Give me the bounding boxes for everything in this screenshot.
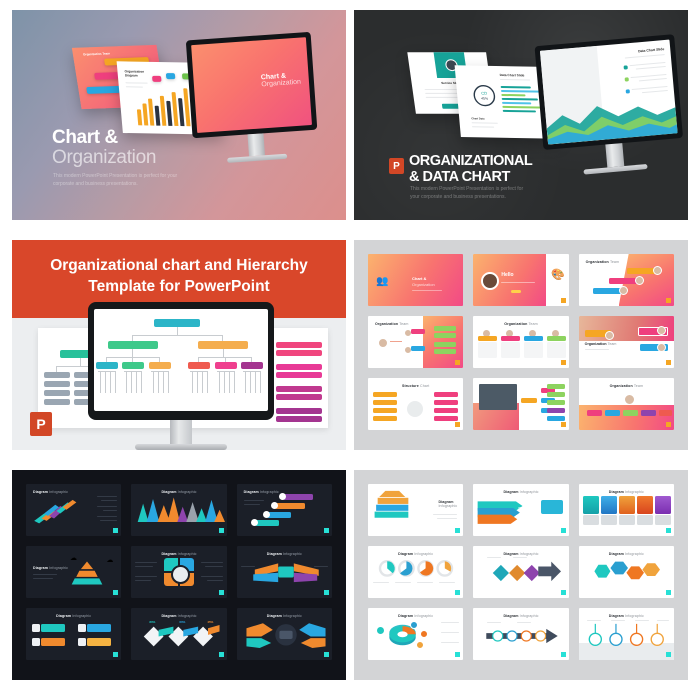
slide-thumb[interactable]: Diagram Infographic [579, 608, 674, 660]
card-title-line2: Template for PowerPoint [88, 278, 269, 295]
slide-title: Diagram Infographic [131, 552, 226, 556]
slide-thumb[interactable]: Diagram Infographic [26, 484, 121, 536]
slide-title: Structure Chart [368, 384, 463, 388]
diamond-ribbon-icon [135, 620, 225, 648]
panel-dark-diagram-infographic-grid[interactable]: Diagram Infographic [12, 470, 346, 680]
hero-title: ORGANIZATIONAL & DATA CHART [409, 154, 532, 185]
slide-thumb[interactable]: Organization Team [473, 316, 568, 368]
slide-subtitle: Organization [412, 282, 435, 287]
slide-title: Organization Team [586, 260, 619, 264]
hero-title-line1: ORGANIZATIONAL [409, 153, 532, 169]
pyramid-icon [64, 558, 110, 588]
screen-title-light: Organization [261, 79, 301, 89]
card-title: Organizational chart and Hierarchy Templ… [12, 256, 346, 298]
slide-thumb[interactable]: Organization Team [579, 254, 674, 306]
slide-badge [455, 360, 460, 365]
slide-thumb[interactable]: Diagram Infographic 84% 68% 47% [473, 484, 568, 536]
slide-title: Diagram Infographic [237, 552, 332, 556]
percent-label: 80% [149, 620, 155, 624]
percent-label: 60% [179, 620, 185, 624]
diamond-arrow-icon [477, 560, 567, 586]
slide-title: Hello [501, 272, 513, 278]
slide-thumb[interactable]: Diagram Infographic [579, 484, 674, 536]
slide-thumb[interactable]: 👥 Chart & Organization [368, 254, 463, 306]
panel-orgchart-hierarchy-title-card[interactable]: Organizational chart and Hierarchy Templ… [12, 240, 346, 450]
slide-thumb[interactable]: Organization Team [368, 316, 463, 368]
slide-title: Diagram Infographic [33, 566, 68, 570]
slide-title: Diagram Infographic [131, 614, 226, 618]
template-preview-grid: Organization Team OrganizationDiagram [0, 0, 700, 700]
slide-thumb[interactable]: Diagram Infographic [368, 608, 463, 660]
slide-badge [219, 590, 224, 595]
slide-title: Organization Team [579, 384, 674, 388]
slide-badge [324, 652, 329, 657]
slide-badge [113, 590, 118, 595]
slide-thumb[interactable] [473, 378, 568, 430]
slide-badge [561, 298, 566, 303]
slide-thumb[interactable]: Diagram Infographic [473, 546, 568, 598]
slide-title: Diagram Infographic [244, 490, 279, 494]
powerpoint-icon [30, 412, 52, 436]
slide-title: Diagram Infographic [368, 614, 463, 618]
slide-badge [666, 360, 671, 365]
slide-thumb[interactable]: Diagram Infographic [237, 608, 332, 660]
powerpoint-icon [389, 158, 404, 174]
slide-thumb[interactable]: Diagram Infographic [473, 608, 568, 660]
peak-chart [135, 496, 225, 522]
slide-title: Chart & [412, 276, 426, 281]
slide-thumb[interactable]: Organization Team [579, 378, 674, 430]
slide-badge [666, 528, 671, 533]
hero-background: Organization Team OrganizationDiagram [12, 10, 346, 220]
panel-organizational-data-chart-hero[interactable]: Service Skills Data Chart Slide CD 45% [354, 10, 688, 220]
slide-sheet-dark: Diagram Infographic [12, 470, 346, 680]
slide-thumb[interactable]: Diagram Infographic ☁ ☁ [26, 546, 121, 598]
hero-body-text: This modern PowerPoint Presentation is p… [410, 185, 530, 201]
circle-diagram-icon: CD 45% [470, 83, 498, 107]
bowtie-diagram-icon [247, 558, 325, 586]
slide-thumb[interactable]: Diagram Infographic [237, 484, 332, 536]
slide-title: Diagram Infographic [368, 552, 463, 556]
slide-title: Diagram Infographic [473, 490, 568, 494]
percent-label: 68% [518, 506, 524, 510]
slide-title: Diagram Infographic [237, 614, 332, 618]
slide-sheet-light: DiagramInfographic Diagram Infographic 8… [354, 470, 688, 680]
slide-badge [455, 422, 460, 427]
slide-thumb[interactable]: Hello 🎨 [473, 254, 568, 306]
slide-title: Diagram Infographic [579, 552, 674, 556]
hero-title-line2: & DATA CHART [409, 169, 510, 185]
slide-thumb[interactable]: Diagram Infographic [368, 546, 463, 598]
svg-text:45%: 45% [481, 97, 488, 101]
timeline-arrow-icon [477, 626, 567, 646]
hero-title-light: Organization [52, 148, 156, 167]
double-arrow-icon [240, 620, 332, 648]
slide-badge [561, 360, 566, 365]
slide-badge [666, 652, 671, 657]
slide-badge [666, 590, 671, 595]
slide-thumb[interactable]: Diagram Infographic [579, 546, 674, 598]
slide-badge [113, 652, 118, 657]
house-steps-icon [370, 487, 416, 527]
slide-title: Organization Team [585, 342, 617, 346]
slide-thumb[interactable]: Diagram Infographic [26, 608, 121, 660]
hero-body-text: This modern PowerPoint Presentation is p… [53, 173, 183, 189]
panel-organization-team-slide-grid[interactable]: 👥 Chart & Organization Hello 🎨 Or [354, 240, 688, 450]
slide-badge [561, 528, 566, 533]
hexagons-icon [585, 560, 671, 584]
slide-badge [219, 528, 224, 533]
slide-badge [561, 590, 566, 595]
slide-sheet: 👥 Chart & Organization Hello 🎨 Or [354, 240, 688, 450]
slide-badge [455, 652, 460, 657]
panel-light-diagram-infographic-grid[interactable]: DiagramInfographic Diagram Infographic 8… [354, 470, 688, 680]
slide-thumb[interactable]: Structure Chart [368, 378, 463, 430]
slide-title: Organization Team [375, 322, 408, 326]
slide-badge [561, 652, 566, 657]
gauge-row-icon [370, 558, 462, 582]
slide-title: Diagram Infographic [26, 614, 121, 618]
slide-badge [219, 652, 224, 657]
slide-title: Organization Team [473, 322, 568, 326]
slide-thumb[interactable]: Organization Team [579, 316, 674, 368]
slide-title: Diagram Infographic [473, 552, 568, 556]
pins-row-icon [585, 622, 671, 648]
panel-chart-organization-hero[interactable]: Organization Team OrganizationDiagram [12, 10, 346, 220]
slide-badge [324, 528, 329, 533]
percent-label: 45% [207, 620, 213, 624]
percent-label: 84% [521, 498, 527, 502]
slide-badge [113, 528, 118, 533]
card-title-line1: Organizational chart and Hierarchy [50, 257, 308, 274]
isometric-bars-icon [28, 494, 90, 528]
imac-mockup: Data Chart Slide [535, 34, 686, 178]
slide-thumb[interactable]: Diagram Infographic [131, 546, 226, 598]
percent-label: 47% [515, 514, 521, 518]
slide-badge [666, 298, 671, 303]
hero-title-bold: Chart & [52, 128, 118, 147]
svg-text:CD: CD [481, 91, 487, 96]
monitor-mockup [88, 302, 274, 450]
slide-badge [455, 590, 460, 595]
slide-badge [561, 422, 566, 427]
slide-thumb[interactable]: Diagram Infographic [131, 484, 226, 536]
slide-badge [455, 528, 460, 533]
slide-title: Diagram Infographic [579, 614, 674, 618]
slide-thumb[interactable]: Diagram Infographic [237, 546, 332, 598]
slide-thumb[interactable]: Diagram Infographic 80% 60% 45% [131, 608, 226, 660]
ribbon-percent-icon [475, 496, 541, 524]
slide-title: Diagram Infographic [131, 490, 226, 494]
slide-badge [666, 422, 671, 427]
slide-thumb[interactable]: DiagramInfographic [368, 484, 463, 536]
hero-background-dark: Service Skills Data Chart Slide CD 45% [354, 10, 688, 220]
slide-title: Diagram Infographic [473, 614, 568, 618]
slide-badge [324, 590, 329, 595]
imac-mockup: Chart & Organization [186, 32, 319, 165]
slide-title: DiagramInfographic [438, 500, 457, 508]
slide-title: Diagram Infographic [579, 490, 674, 494]
